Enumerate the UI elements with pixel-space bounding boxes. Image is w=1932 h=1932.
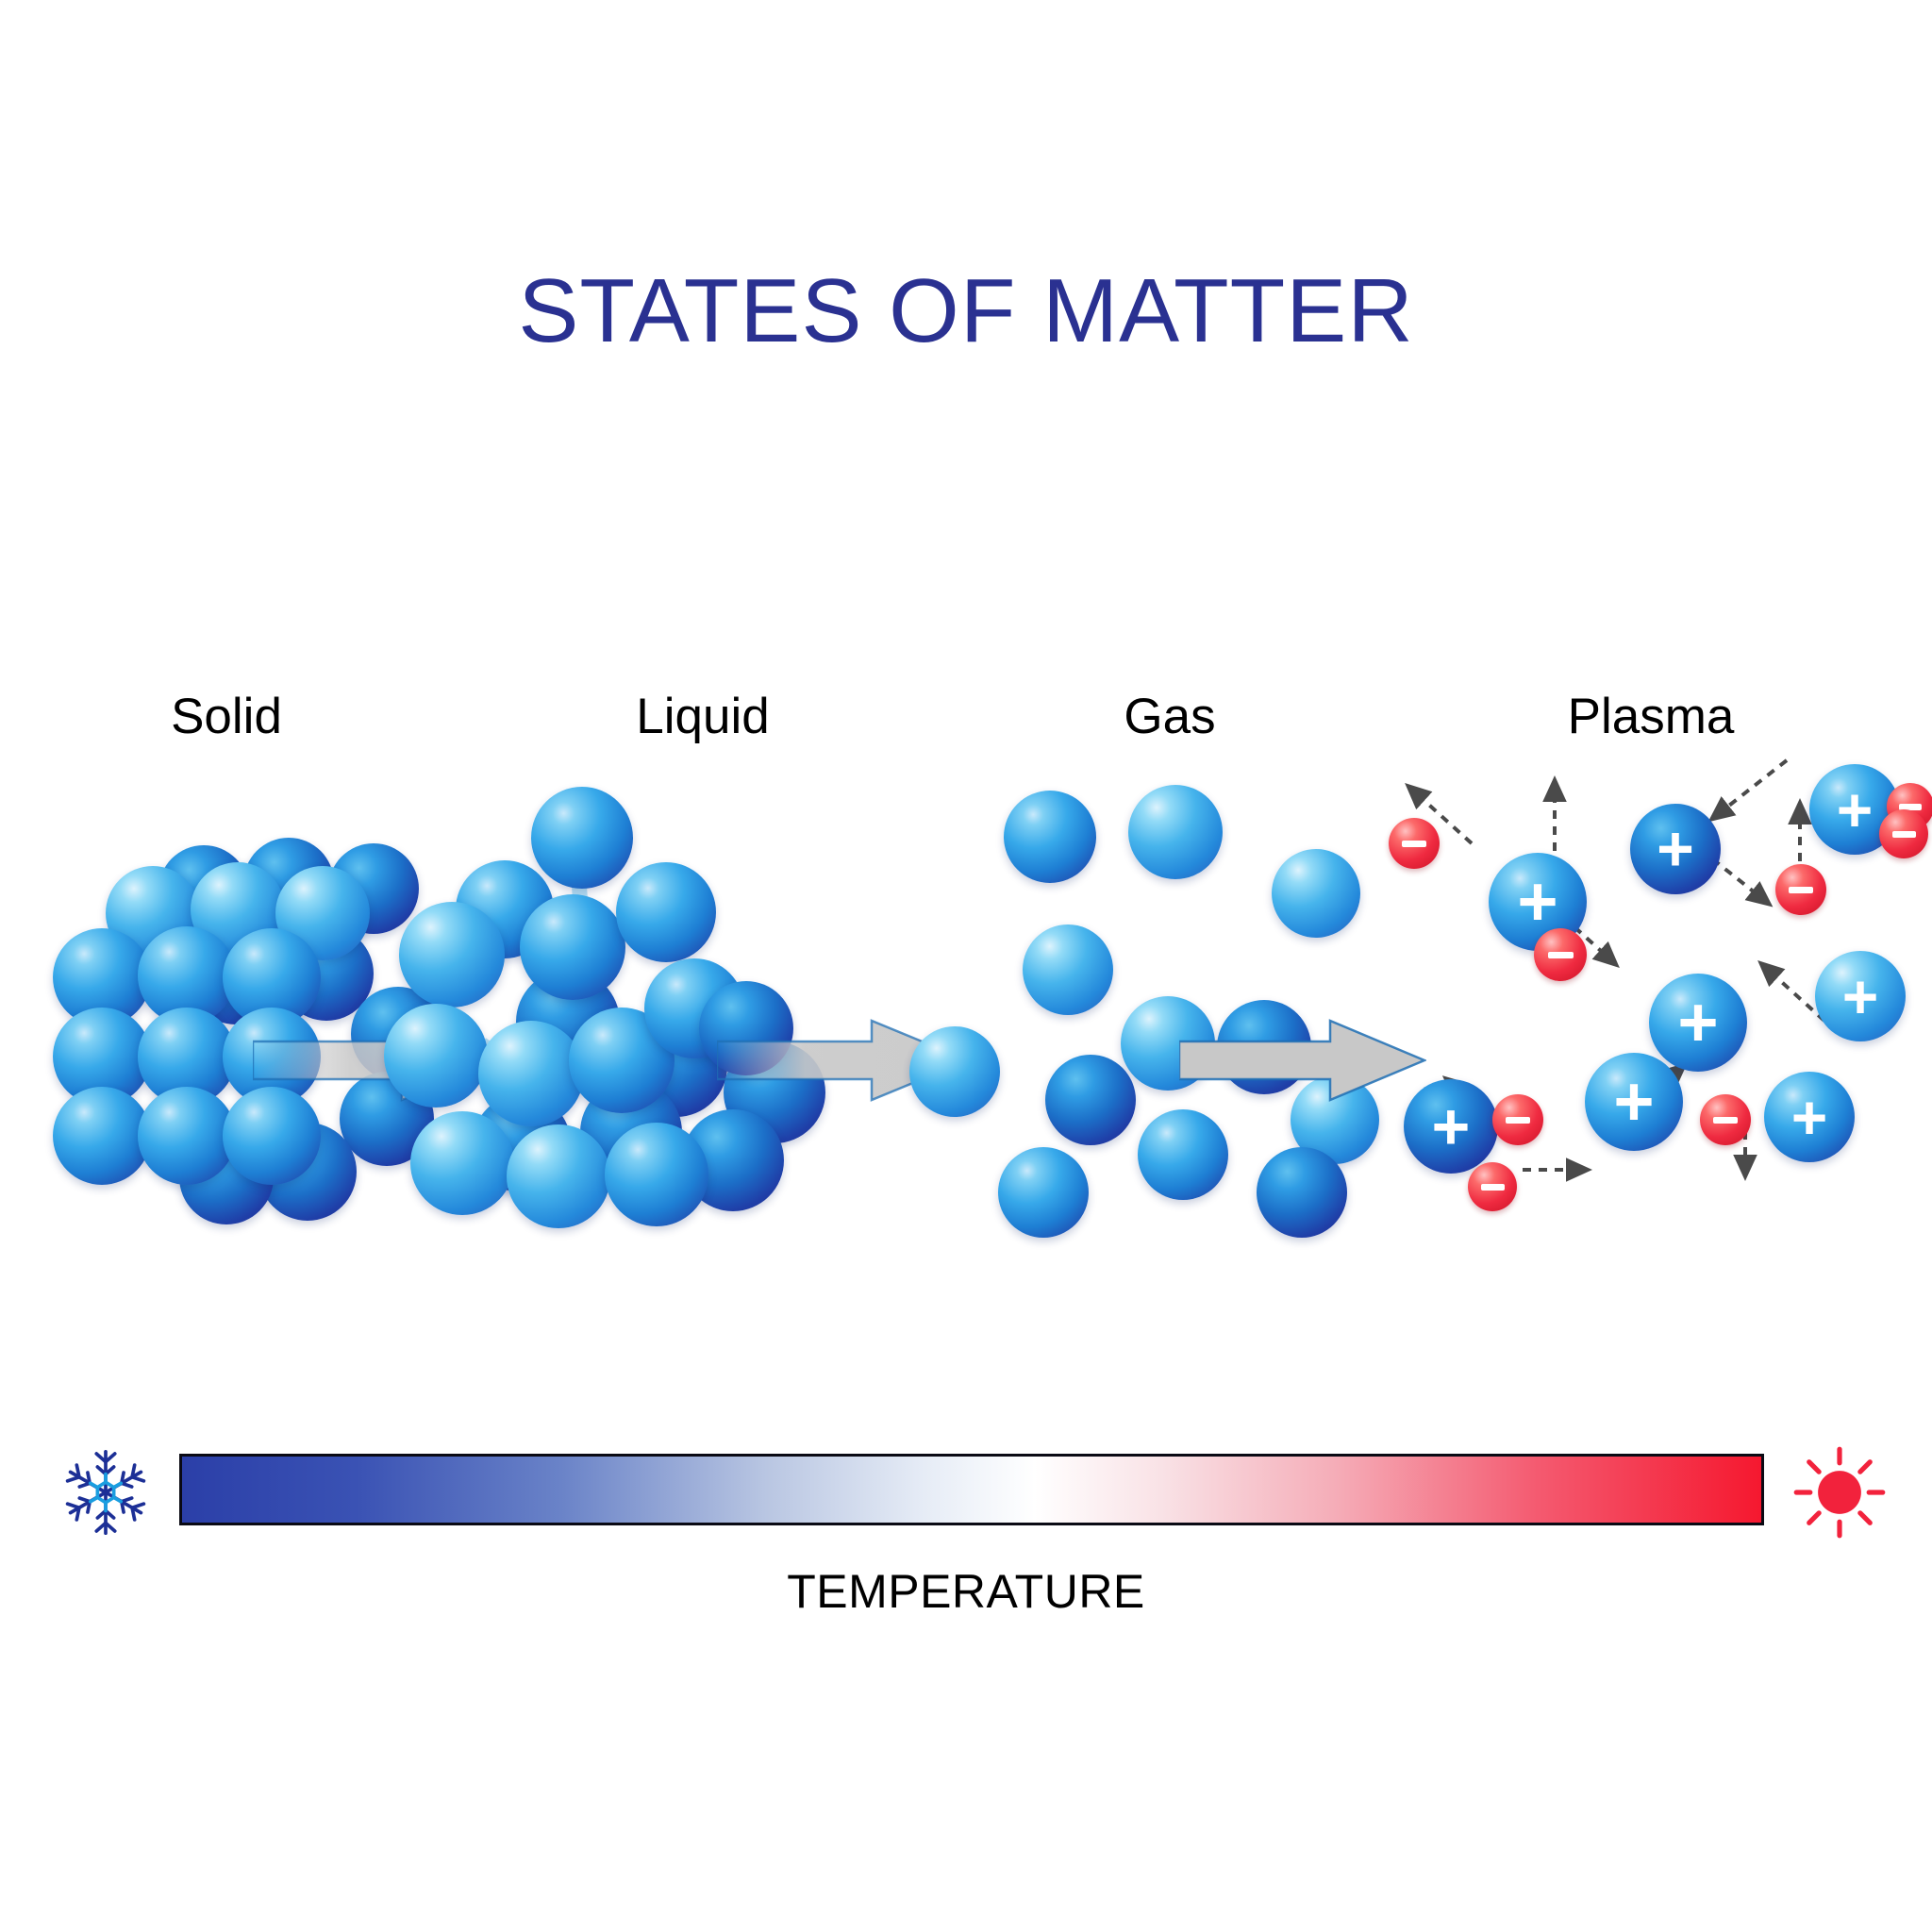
molecule: [531, 787, 633, 889]
electron: [1492, 1094, 1543, 1145]
positive-ion: [1649, 974, 1747, 1072]
positive-ion: [1404, 1079, 1498, 1174]
molecule: [478, 1021, 584, 1126]
molecule: [998, 1147, 1089, 1238]
electron: [1775, 864, 1826, 915]
page-title: STATES OF MATTER: [0, 266, 1932, 357]
motion-arrow-icon: [1536, 772, 1574, 853]
state-label-liquid: Liquid: [533, 691, 873, 741]
motion-arrow-icon: [1696, 753, 1794, 826]
plasma-state-illustration: + + + + + + + +: [1415, 811, 1915, 1264]
electron: [1389, 818, 1440, 869]
temperature-caption: TEMPERATURE: [0, 1568, 1932, 1615]
sun-icon: [1790, 1443, 1889, 1541]
minus-sign: [1892, 831, 1916, 838]
transition-arrow-gas-to-plasma: [1179, 1017, 1426, 1104]
positive-ion: [1815, 951, 1906, 1041]
state-label-gas: Gas: [1000, 691, 1340, 741]
electron: [1700, 1094, 1751, 1145]
molecule: [1272, 849, 1360, 938]
molecule: [1004, 791, 1096, 883]
temperature-gradient-bar: [179, 1454, 1764, 1525]
positive-ion: [1585, 1053, 1683, 1151]
positive-ion: [1630, 804, 1721, 894]
electron: [1534, 928, 1587, 981]
molecule: [1023, 924, 1113, 1015]
minus-sign: [1481, 1184, 1505, 1191]
molecule: [410, 1111, 514, 1215]
molecule: [1138, 1109, 1228, 1200]
motion-arrow-icon: [1519, 1155, 1600, 1185]
molecule: [616, 862, 716, 962]
minus-sign: [1548, 952, 1574, 958]
molecule: [1257, 1147, 1347, 1238]
molecule: [1128, 785, 1223, 879]
minus-sign: [1506, 1117, 1530, 1124]
minus-sign: [1402, 841, 1426, 847]
snowflake-icon: [55, 1441, 157, 1543]
molecule: [399, 902, 505, 1008]
molecule: [1045, 1055, 1136, 1145]
electron: [1879, 809, 1928, 858]
states-of-matter-diagram: STATES OF MATTER Solid Liquid Gas Plasma: [0, 0, 1932, 1932]
state-label-plasma: Plasma: [1462, 691, 1840, 741]
electron: [1468, 1162, 1517, 1211]
molecule: [520, 894, 625, 1000]
molecule: [909, 1026, 1000, 1117]
molecule: [384, 1004, 488, 1108]
state-label-solid: Solid: [57, 691, 396, 741]
minus-sign: [1789, 887, 1813, 893]
minus-sign: [1713, 1117, 1738, 1124]
molecule: [605, 1123, 708, 1226]
molecule: [507, 1124, 610, 1228]
molecule: [53, 1087, 151, 1185]
molecule: [138, 1087, 236, 1185]
positive-ion: [1764, 1072, 1855, 1162]
